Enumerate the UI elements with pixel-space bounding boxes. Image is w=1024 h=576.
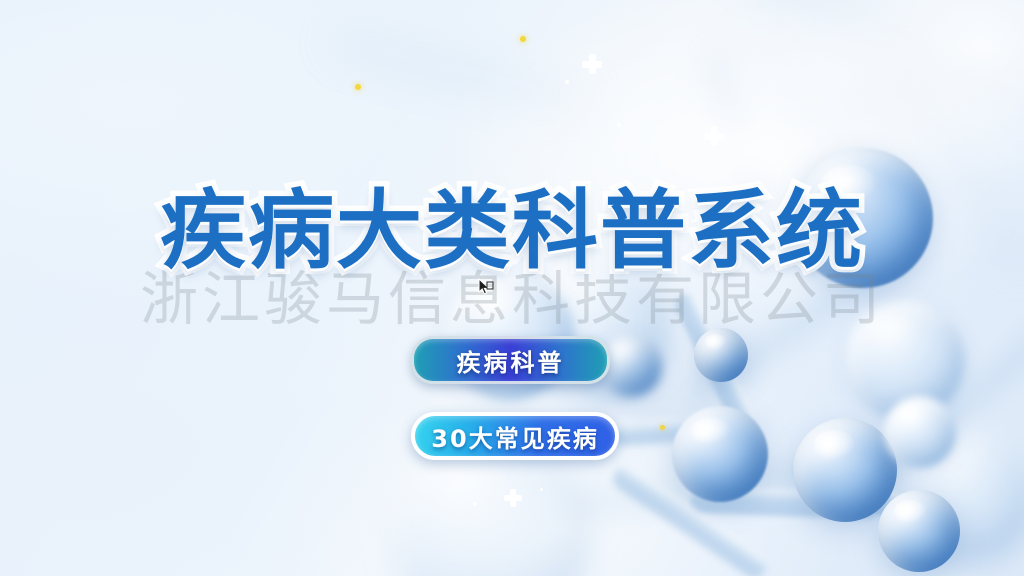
white-dot xyxy=(565,80,569,84)
disease-science-button-label: 疾病科普 xyxy=(457,343,565,378)
molecule-atom xyxy=(793,418,897,522)
white-dot xyxy=(540,488,543,491)
yellow-dot xyxy=(520,36,526,42)
molecule-atom xyxy=(878,490,960,572)
white-dot xyxy=(617,123,621,127)
top-30-diseases-button-label: 30大常见疾病 xyxy=(431,419,598,454)
app-screen: 浙江骏马信息科技有限公司 疾病大类科普系统 疾病科普 30大常见疾病 xyxy=(0,0,1024,576)
molecule-atom xyxy=(694,328,748,382)
yellow-dot xyxy=(355,84,361,90)
molecule-atom xyxy=(884,396,956,468)
medical-cross-icon xyxy=(704,126,724,146)
disease-science-button[interactable]: 疾病科普 xyxy=(411,336,610,384)
medical-cross-icon xyxy=(504,489,522,507)
yellow-dot xyxy=(660,425,665,430)
white-dot xyxy=(473,502,477,506)
molecule-atom xyxy=(672,406,768,502)
medical-cross-icon xyxy=(582,54,602,74)
page-title: 疾病大类科普系统 xyxy=(0,160,1024,285)
top-30-diseases-button[interactable]: 30大常见疾病 xyxy=(411,412,619,460)
